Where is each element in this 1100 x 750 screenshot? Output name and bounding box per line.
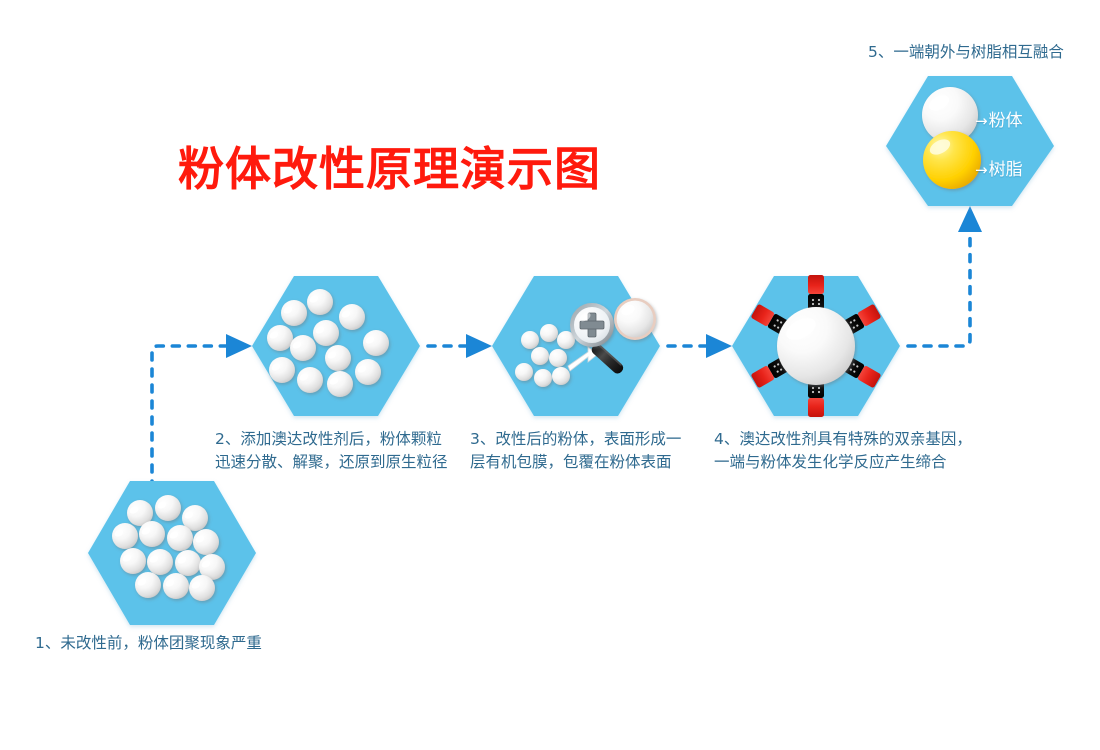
connector-step4-step5 — [908, 206, 982, 346]
hexagon-step-2[interactable] — [252, 276, 420, 416]
caption-step-3-line-2: 层有机包膜，包覆在粉体表面 — [470, 451, 681, 474]
caption-step-1-line-1: 1、未改性前，粉体团聚现象严重 — [35, 632, 262, 655]
arrow-glyph-resin: → — [975, 161, 988, 179]
page-title: 粉体改性原理演示图 — [178, 133, 601, 199]
hexagon-step-5[interactable] — [886, 76, 1054, 206]
powder-label-text: 粉体 — [989, 111, 1023, 131]
diagram-canvas: 粉体改性原理演示图 →粉体 →树脂 1、未改性前，粉体团聚现象严重 2、添加澳达… — [0, 0, 1100, 750]
resin-label: →树脂 — [975, 155, 1023, 180]
caption-step-2-line-1: 2、添加澳达改性剂后，粉体颗粒 — [215, 428, 448, 451]
connector-step2-step3 — [428, 334, 492, 358]
hexagon-step-3[interactable] — [492, 276, 660, 416]
resin-sphere-icon — [923, 131, 981, 189]
caption-step-2-line-2: 迅速分散、解聚，还原到原生粒径 — [215, 451, 448, 474]
caption-step-2: 2、添加澳达改性剂后，粉体颗粒 迅速分散、解聚，还原到原生粒径 — [215, 428, 448, 474]
caption-step-3-line-1: 3、改性后的粉体，表面形成一 — [470, 428, 681, 451]
caption-step-4: 4、澳达改性剂具有特殊的双亲基因， 一端与粉体发生化学反应产生缔合 — [714, 428, 972, 474]
caption-step-3: 3、改性后的粉体，表面形成一 层有机包膜，包覆在粉体表面 — [470, 428, 681, 474]
coated-particle-icon — [614, 298, 656, 340]
caption-step-1: 1、未改性前，粉体团聚现象严重 — [35, 632, 262, 655]
resin-label-text: 树脂 — [989, 160, 1023, 180]
arrow-glyph-powder: → — [975, 112, 988, 130]
caption-step-4-line-2: 一端与粉体发生化学反应产生缔合 — [714, 451, 972, 474]
caption-step-5-line-1: 5、一端朝外与树脂相互融合 — [868, 41, 1064, 64]
powder-label: →粉体 — [975, 106, 1023, 131]
caption-step-4-line-1: 4、澳达改性剂具有特殊的双亲基因， — [714, 428, 972, 451]
core-particle-icon — [777, 307, 855, 385]
hexagon-step-4[interactable] — [732, 275, 900, 417]
hexagon-step-1[interactable] — [88, 481, 256, 625]
connector-step3-step4 — [668, 334, 732, 358]
caption-step-5: 5、一端朝外与树脂相互融合 — [868, 41, 1064, 64]
